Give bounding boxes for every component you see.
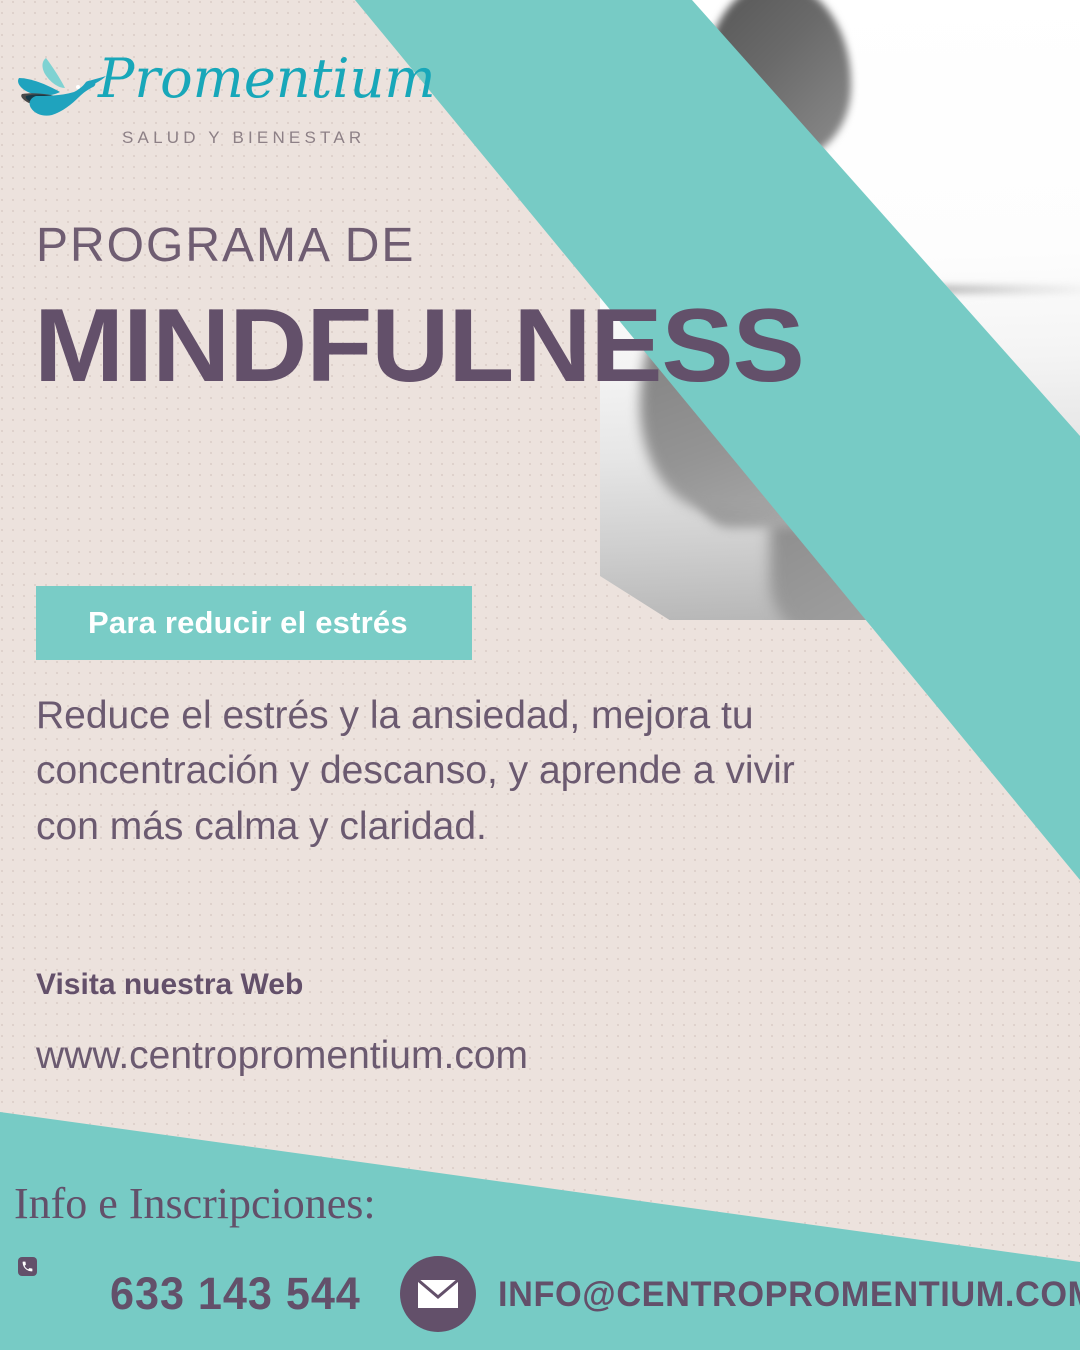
phone-icon — [18, 1257, 37, 1276]
program-description: Reduce el estrés y la ansiedad, mejora t… — [36, 688, 796, 854]
brand-name: Promentium — [98, 52, 436, 106]
envelope-glyph — [416, 1278, 460, 1310]
poster-canvas: Promentium SALUD Y BIENESTAR PROGRAMA DE… — [0, 0, 1080, 1350]
phone-glyph — [21, 1260, 34, 1273]
brand-tagline: SALUD Y BIENESTAR — [122, 128, 365, 148]
web-label: Visita nuestra Web — [36, 968, 303, 1002]
benefit-badge: Para reducir el estrés — [36, 586, 472, 660]
program-kicker: PROGRAMA DE — [36, 222, 415, 270]
footer-heading: Info e Inscripciones: — [14, 1178, 376, 1229]
program-headline: MINDFULNESS — [34, 294, 804, 398]
phone-number[interactable]: 633 143 544 — [110, 1268, 361, 1320]
hummingbird-icon — [16, 52, 108, 130]
website-url[interactable]: www.centropromentium.com — [36, 1034, 528, 1078]
benefit-badge-label: Para reducir el estrés — [36, 605, 408, 641]
envelope-icon — [400, 1256, 476, 1332]
brand-logo[interactable]: Promentium SALUD Y BIENESTAR — [14, 48, 374, 158]
email-address[interactable]: INFO@CENTROPROMENTIUM.COM — [498, 1275, 1080, 1315]
